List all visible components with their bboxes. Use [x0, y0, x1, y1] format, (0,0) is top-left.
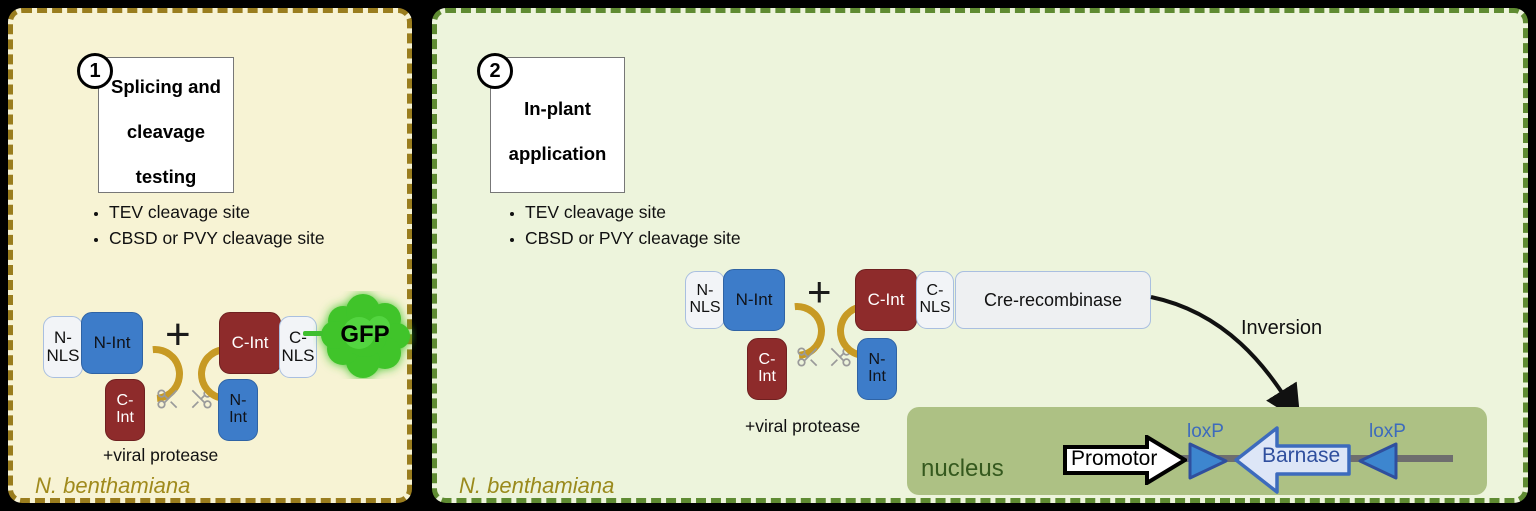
- loxp-triangle-right-shape: [1357, 441, 1399, 481]
- block-cre-recombinase: Cre-recombinase: [955, 271, 1151, 329]
- block-c-int-bottom-2-text: C- Int: [758, 352, 776, 386]
- block-c-int-bottom-line-1: C-: [117, 392, 134, 409]
- loxp-label-left: loxP: [1187, 421, 1224, 443]
- panel-2-bullet-list: TEV cleavage site CBSD or PVY cleavage s…: [499, 201, 945, 253]
- viral-protease-note-panel-1: +viral protease: [103, 445, 218, 466]
- plus-symbol-panel-1-text: +: [165, 310, 191, 359]
- block-n-nls-2-text: N- NLS: [689, 283, 720, 317]
- block-c-int-right-text: C-Int: [232, 334, 269, 352]
- gfp-blob: GFP: [313, 291, 417, 379]
- gfp-label: GFP: [313, 291, 417, 379]
- block-c-int-right-2: C-Int: [855, 269, 917, 331]
- scissors-icon-left-2: [795, 344, 821, 370]
- loxp-triangle-left: [1187, 441, 1229, 486]
- block-n-nls-2-line-2: NLS: [689, 299, 720, 316]
- block-c-nls: C- NLS: [279, 316, 317, 378]
- panel-1-title: Splicing and cleavage testing: [111, 76, 221, 189]
- block-c-int-bottom-2-line-1: C-: [759, 351, 776, 368]
- panel-2-title: In-plant application: [509, 98, 607, 166]
- block-c-nls-2-line-2: NLS: [919, 299, 950, 316]
- block-c-nls-2: C- NLS: [916, 271, 954, 329]
- block-n-nls-line-1: N-: [54, 328, 72, 347]
- block-n-nls-line-2: NLS: [46, 346, 79, 365]
- block-c-int-bottom-2-line-2: Int: [758, 368, 776, 385]
- block-n-nls: N- NLS: [43, 316, 83, 378]
- panel-in-plant-application: 2 In-plant application TEV cleavage site…: [432, 8, 1528, 503]
- loxp-triangle-left-shape: [1187, 441, 1229, 481]
- panel-2-number: 2: [489, 60, 500, 83]
- barnase-label: Barnase: [1262, 444, 1340, 468]
- block-c-int-bottom: C- Int: [105, 379, 145, 441]
- block-c-int-right: C-Int: [219, 312, 281, 374]
- viral-protease-note-panel-2: +viral protease: [745, 416, 860, 437]
- panel-splicing-and-cleavage-testing: 1 Splicing and cleavage testing TEV clea…: [8, 8, 412, 503]
- loxp-label-right: loxP: [1369, 421, 1406, 443]
- promotor-label: Promotor: [1071, 447, 1157, 471]
- block-n-int-bottom-2-text: N- Int: [868, 352, 886, 386]
- block-n-int-bottom-2: N- Int: [857, 338, 897, 400]
- panel-1-bullet-list: TEV cleavage site CBSD or PVY cleavage s…: [83, 201, 429, 253]
- panel-2-title-line-1: In-plant: [509, 98, 607, 121]
- panel-1-title-box: Splicing and cleavage testing: [98, 57, 234, 193]
- promotor-arrow: Promotor: [1063, 435, 1187, 485]
- block-n-int-top-text: N-Int: [94, 334, 131, 352]
- block-c-nls-2-line-1: C-: [927, 282, 944, 299]
- block-c-nls-line-2: NLS: [281, 346, 314, 365]
- block-c-int-bottom-2: C- Int: [747, 338, 787, 400]
- panel-1-title-line-1: Splicing and: [111, 76, 221, 99]
- plus-symbol-panel-2-text: +: [807, 268, 832, 315]
- block-n-int-bottom: N- Int: [218, 379, 258, 441]
- block-n-int-top-2-text: N-Int: [736, 291, 773, 309]
- block-c-int-right-2-text: C-Int: [868, 291, 905, 309]
- list-item: TEV cleavage site: [525, 201, 945, 225]
- species-label-panel-1: N. benthamiana: [35, 473, 190, 499]
- list-item: CBSD or PVY cleavage site: [525, 227, 945, 251]
- inversion-label: Inversion: [1241, 317, 1322, 340]
- loxp-triangle-right: [1357, 441, 1399, 486]
- block-n-nls-2: N- NLS: [685, 271, 725, 329]
- block-n-int-bottom-line-2: Int: [229, 409, 247, 426]
- plus-symbol-panel-2: +: [807, 271, 832, 313]
- panel-1-number: 1: [89, 60, 100, 83]
- scissors-icon-left: [155, 386, 181, 412]
- block-n-nls-text: N- NLS: [46, 329, 79, 365]
- list-item: CBSD or PVY cleavage site: [109, 227, 429, 251]
- barnase-gene-arrow: Barnase: [1232, 424, 1352, 496]
- block-n-int-bottom-2-line-2: Int: [868, 368, 886, 385]
- block-cre-recombinase-text: Cre-recombinase: [984, 291, 1122, 310]
- block-c-int-bottom-line-2: Int: [116, 409, 134, 426]
- panel-1-title-line-3: testing: [111, 166, 221, 189]
- block-n-int-bottom-text: N- Int: [229, 393, 247, 427]
- species-label-panel-2: N. benthamiana: [459, 473, 614, 499]
- block-n-int-bottom-line-1: N-: [230, 392, 247, 409]
- panel-1-number-badge: 1: [77, 53, 113, 89]
- panel-2-number-badge: 2: [477, 53, 513, 89]
- panel-1-title-line-2: cleavage: [111, 121, 221, 144]
- block-n-nls-2-line-1: N-: [697, 282, 714, 299]
- block-c-int-bottom-text: C- Int: [116, 393, 134, 427]
- plus-symbol-panel-1: +: [165, 313, 191, 357]
- nucleus-label: nucleus: [921, 455, 1004, 483]
- list-item: TEV cleavage site: [109, 201, 429, 225]
- block-n-int-bottom-2-line-1: N-: [869, 351, 886, 368]
- block-c-nls-2-text: C- NLS: [919, 283, 950, 317]
- panel-2-title-line-2: application: [509, 143, 607, 166]
